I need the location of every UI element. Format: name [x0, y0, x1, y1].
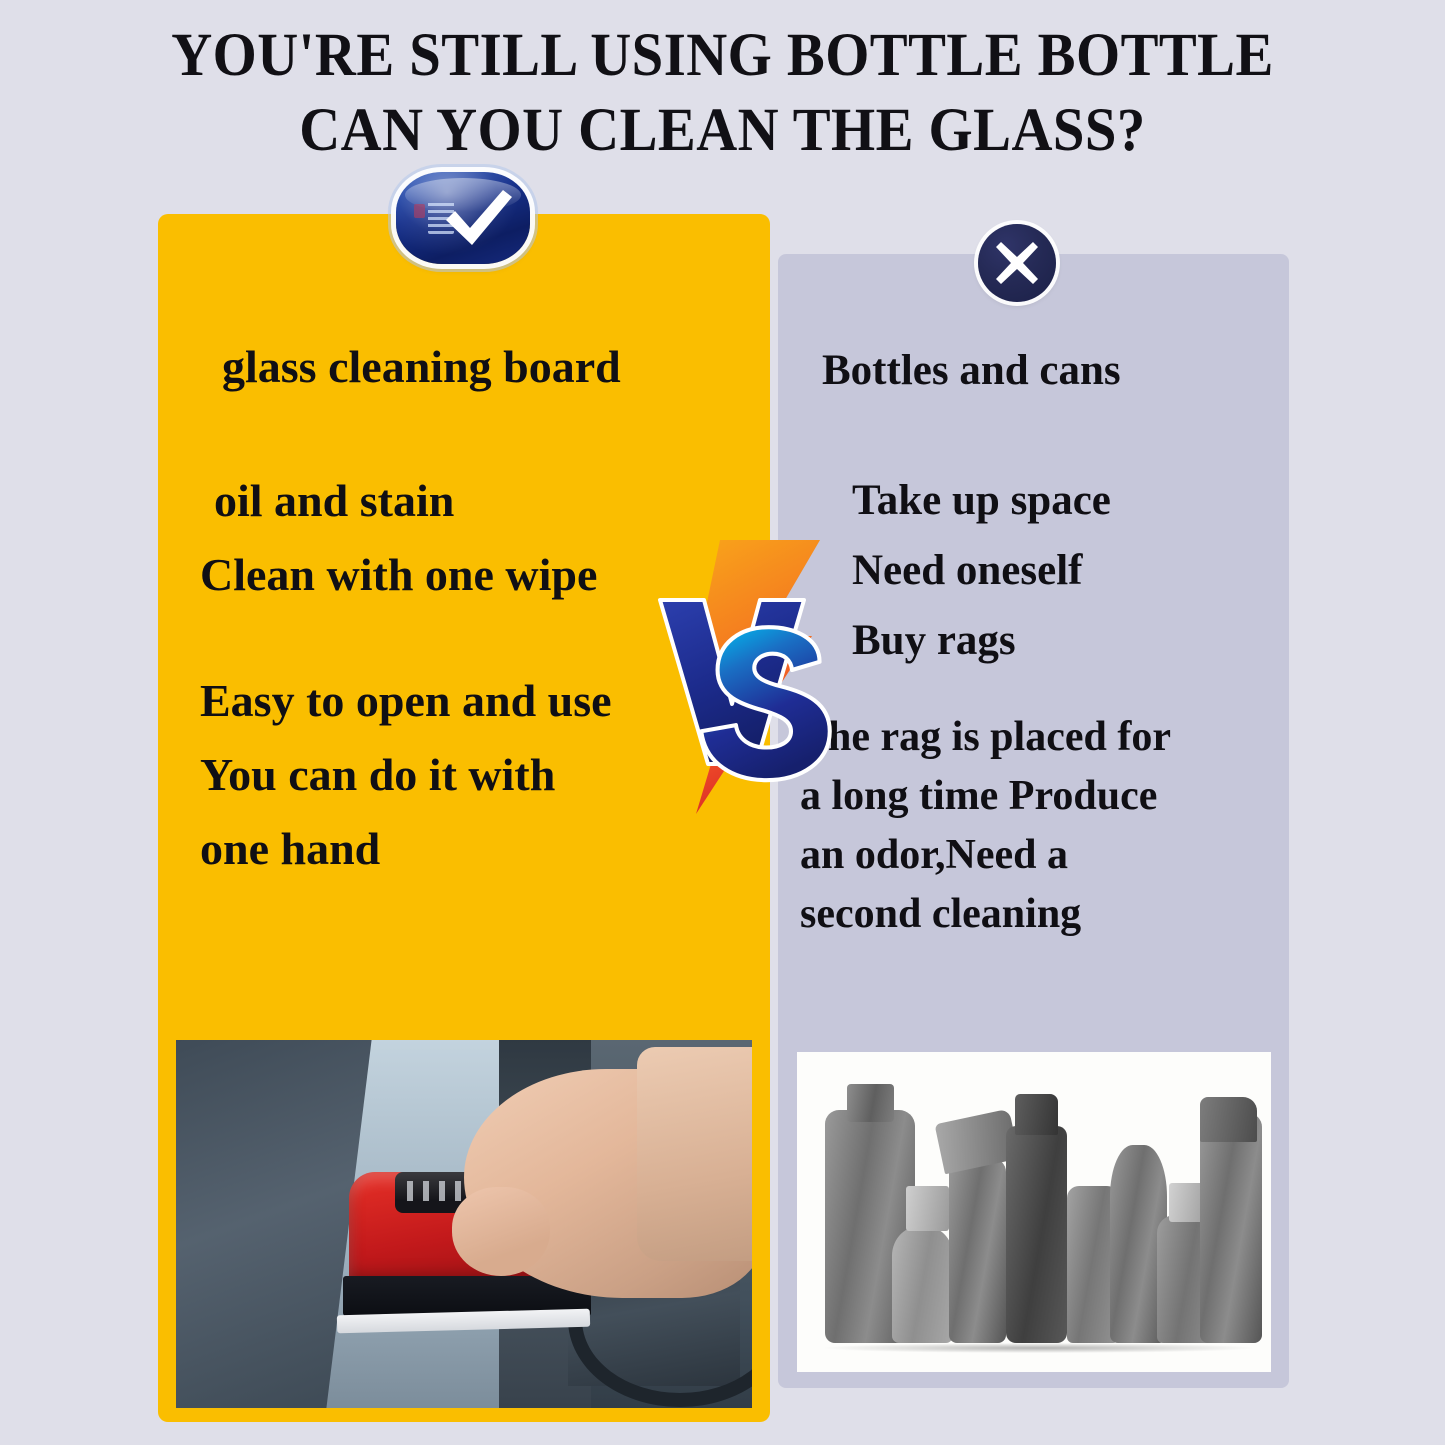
- cons-line-3: Buy rags: [800, 606, 1290, 676]
- cons-text-column: Bottles and cans Take up space Need ones…: [800, 336, 1290, 944]
- pros-line-1: oil and stain: [200, 464, 740, 538]
- photo-bottle-cap-left: [847, 1084, 894, 1122]
- cons-paragraph-line-4: second cleaning: [800, 885, 1290, 944]
- title-line-2: CAN YOU CLEAN THE GLASS?: [51, 93, 1395, 168]
- pros-product-photo: [176, 1040, 752, 1408]
- photo-bottle-large-right: [1200, 1113, 1262, 1343]
- title-line-1: YOU'RE STILL USING BOTTLE BOTTLE: [51, 18, 1395, 93]
- pros-heading: glass cleaning board: [200, 330, 740, 404]
- photo-thumb: [452, 1187, 550, 1275]
- cons-paragraph-line-1: The rag is placed for: [800, 708, 1290, 767]
- photo-bottle-right-spout: [1200, 1097, 1257, 1142]
- photo-bottles-shadow: [825, 1343, 1252, 1353]
- photo-bottle-tall-dark: [1006, 1126, 1068, 1344]
- cons-line-1: Take up space: [800, 466, 1290, 536]
- x-badge-icon: [978, 224, 1056, 302]
- cons-paragraph-line-2: a long time Produce: [800, 767, 1290, 826]
- photo-pump-head-front: [906, 1186, 949, 1231]
- cons-product-photo: [797, 1052, 1271, 1372]
- check-mark-icon: [442, 186, 516, 250]
- cons-paragraph-line-3: an odor,Need a: [800, 826, 1290, 885]
- cons-heading: Bottles and cans: [800, 336, 1290, 406]
- vs-emblem-icon: [652, 528, 852, 824]
- photo-forearm: [637, 1047, 752, 1260]
- cons-line-2: Need oneself: [800, 536, 1290, 606]
- photo-bottle-pump-front: [892, 1225, 954, 1343]
- photo-bottle-tall-cap: [1015, 1094, 1058, 1136]
- check-badge-icon: [396, 172, 530, 264]
- page-title: YOU'RE STILL USING BOTTLE BOTTLE CAN YOU…: [0, 18, 1445, 168]
- close-icon: [978, 224, 1056, 302]
- photo-bottle-spray: [949, 1158, 1006, 1344]
